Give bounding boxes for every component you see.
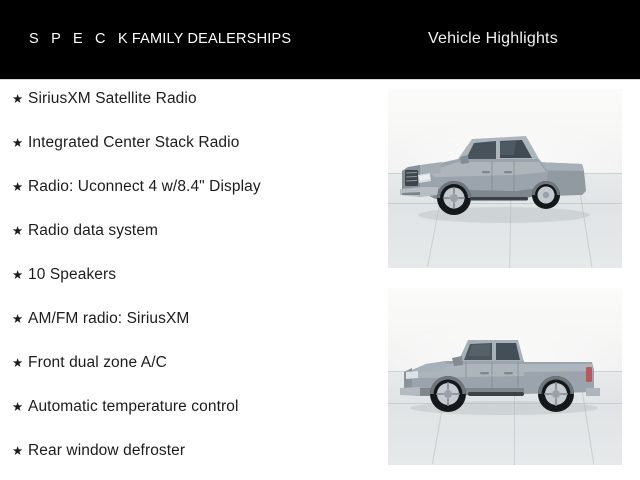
slide-header: S P E C KFAMILY DEALERSHIPS Vehicle High… [0, 0, 640, 80]
vehicle-photo-front-quarter[interactable] [388, 89, 622, 268]
feature-label: Front dual zone A/C [28, 351, 167, 375]
dealership-brand: S P E C KFAMILY DEALERSHIPS [29, 29, 291, 49]
list-item: ★ Radio data system [12, 219, 158, 243]
star-bullet-icon: ★ [12, 263, 28, 287]
star-bullet-icon: ★ [12, 439, 28, 463]
star-bullet-icon: ★ [12, 351, 28, 375]
star-bullet-icon: ★ [12, 131, 28, 155]
star-bullet-icon: ★ [12, 219, 28, 243]
feature-label: Radio data system [28, 219, 158, 243]
feature-label: Radio: Uconnect 4 w/8.4" Display [28, 175, 261, 199]
star-bullet-icon: ★ [12, 395, 28, 419]
vehicle-features-list: ★ SiriusXM Satellite Radio ★ Integrated … [0, 80, 388, 480]
brand-primary-text: S P E C K [29, 31, 132, 47]
truck-illustration-side-profile [396, 318, 614, 428]
list-item: ★ AM/FM radio: SiriusXM [12, 307, 189, 331]
list-item: ★ 10 Speakers [12, 263, 116, 287]
star-bullet-icon: ★ [12, 175, 28, 199]
list-item: ★ Radio: Uconnect 4 w/8.4" Display [12, 175, 261, 199]
list-item: ★ SiriusXM Satellite Radio [12, 87, 197, 111]
feature-label: Automatic temperature control [28, 395, 239, 419]
list-item: ★ Front dual zone A/C [12, 351, 167, 375]
list-item: ★ Integrated Center Stack Radio [12, 131, 239, 155]
vehicle-photo-side-profile[interactable] [388, 288, 622, 465]
truck-illustration-front-quarter [396, 115, 614, 233]
feature-label: Rear window defroster [28, 439, 185, 463]
list-item: ★ Rear window defroster [12, 439, 185, 463]
brand-secondary-text: FAMILY DEALERSHIPS [132, 31, 291, 47]
star-bullet-icon: ★ [12, 87, 28, 111]
feature-label: AM/FM radio: SiriusXM [28, 307, 189, 331]
star-bullet-icon: ★ [12, 307, 28, 331]
feature-label: 10 Speakers [28, 263, 116, 287]
page-title: Vehicle Highlights [428, 28, 558, 50]
list-item: ★ Automatic temperature control [12, 395, 239, 419]
slide-root: S P E C KFAMILY DEALERSHIPS Vehicle High… [0, 0, 640, 480]
feature-label: SiriusXM Satellite Radio [28, 87, 197, 111]
feature-label: Integrated Center Stack Radio [28, 131, 239, 155]
